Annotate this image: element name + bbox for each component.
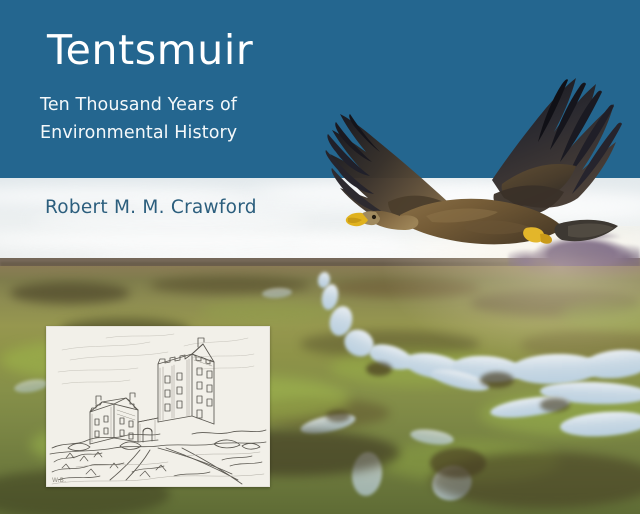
eagle-right-wing bbox=[492, 78, 622, 217]
reed-tuft bbox=[366, 362, 392, 376]
white-tailed-eagle-in-flight bbox=[296, 52, 640, 252]
page-title: Tentsmuir bbox=[47, 29, 253, 72]
book-cover: Tentsmuir Ten Thousand Years of Environm… bbox=[0, 0, 640, 514]
tower-house-pen-sketch: W.B. bbox=[46, 326, 270, 487]
reed-tuft bbox=[326, 410, 350, 422]
reed-tuft bbox=[540, 398, 570, 412]
heather-patch bbox=[330, 278, 480, 298]
heather-patch bbox=[520, 256, 640, 274]
heather-patch bbox=[10, 282, 130, 304]
author-name: Robert M. M. Crawford bbox=[45, 197, 257, 218]
subtitle: Ten Thousand Years of Environmental Hist… bbox=[40, 92, 237, 147]
reed-tuft bbox=[480, 372, 514, 388]
artist-signature: W.B. bbox=[52, 477, 66, 484]
moss-highlight bbox=[200, 300, 340, 324]
eagle-tail bbox=[555, 220, 618, 242]
